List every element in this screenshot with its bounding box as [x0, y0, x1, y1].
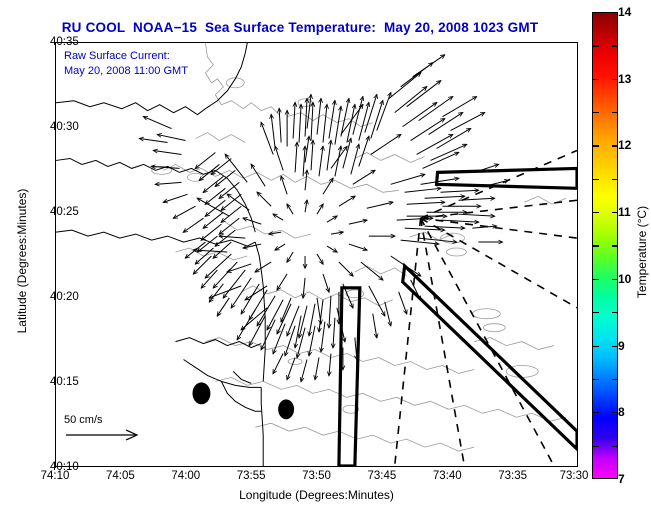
radar-beam-wedges [339, 168, 577, 466]
colorbar-minor-tick [612, 379, 618, 380]
colorbar-minor-tick [612, 112, 618, 113]
colorbar-minor-tick [612, 245, 618, 246]
xtick-6: 73:40 [433, 470, 462, 482]
colorbar-tick-7: 7 [618, 472, 625, 486]
xtick-5: 73:45 [368, 470, 397, 482]
xtick-2: 74:00 [171, 470, 200, 482]
map-plot-area[interactable]: Raw Surface Current:May 20, 2008 11:00 G… [55, 42, 578, 467]
colorbar-label: Temperature (°C) [635, 162, 649, 342]
colorbar-minor-tick [593, 446, 599, 447]
xtick-7: 73:35 [498, 470, 527, 482]
annotation-line-2: May 20, 2008 11:00 GMT [64, 65, 188, 77]
colorbar-minor-tick [593, 312, 599, 313]
vector-scale-label: 50 cm/s [64, 414, 160, 426]
radial-dashed-lines [395, 150, 577, 466]
annotation-line-1: Raw Surface Current: [64, 50, 170, 62]
surface-current-vectors [140, 55, 509, 381]
colorbar-major-tick [593, 212, 599, 213]
coastline [56, 43, 265, 466]
colorbar-major-tick [612, 145, 618, 146]
annotation-text: Raw Surface Current:May 20, 2008 11:00 G… [64, 49, 188, 79]
colorbar-tick-14: 14 [618, 5, 631, 19]
colorbar-major-tick [593, 412, 599, 413]
colorbar-major-tick [593, 79, 599, 80]
map-graphics [56, 43, 577, 466]
colorbar-tick-10: 10 [618, 272, 631, 286]
xtick-3: 73:55 [237, 470, 266, 482]
colorbar-tick-12: 12 [618, 138, 631, 152]
bathymetry-islands [152, 78, 539, 413]
xtick-8: 73:30 [560, 470, 589, 482]
station-marker [192, 382, 210, 404]
colorbar-tick-8: 8 [618, 405, 625, 419]
colorbar-tick-11: 11 [618, 205, 631, 219]
colorbar-minor-tick [593, 112, 599, 113]
colorbar-major-tick [612, 79, 618, 80]
xtick-1: 74:05 [106, 470, 135, 482]
scale-arrow-icon [64, 427, 160, 443]
bathymetry-contours [164, 43, 566, 451]
colorbar-minor-tick [612, 179, 618, 180]
vector-scale-bar: 50 cm/s [64, 414, 160, 448]
colorbar-major-tick [612, 212, 618, 213]
figure-canvas: RU COOL NOAA−15 Sea Surface Temperature:… [0, 0, 651, 519]
xtick-4: 73:50 [302, 470, 331, 482]
colorbar-major-tick [593, 145, 599, 146]
colorbar-major-tick [612, 412, 618, 413]
colorbar-minor-tick [612, 446, 618, 447]
x-axis-label: Longitude (Degrees:Minutes) [55, 488, 578, 502]
colorbar-major-tick [593, 346, 599, 347]
colorbar-major-tick [593, 279, 599, 280]
colorbar-tick-9: 9 [618, 339, 625, 353]
colorbar-minor-tick [593, 45, 599, 46]
colorbar-minor-tick [612, 45, 618, 46]
station-marker [278, 399, 294, 419]
page-title: RU COOL NOAA−15 Sea Surface Temperature:… [0, 20, 600, 35]
colorbar-minor-tick [593, 379, 599, 380]
colorbar-major-tick [612, 279, 618, 280]
colorbar-minor-tick [612, 312, 618, 313]
y-axis-label: Latitude (Degrees:Minutes) [15, 161, 29, 361]
colorbar-minor-tick [593, 245, 599, 246]
colorbar-minor-tick [593, 179, 599, 180]
colorbar-tick-13: 13 [618, 72, 631, 86]
colorbar-major-tick [612, 346, 618, 347]
